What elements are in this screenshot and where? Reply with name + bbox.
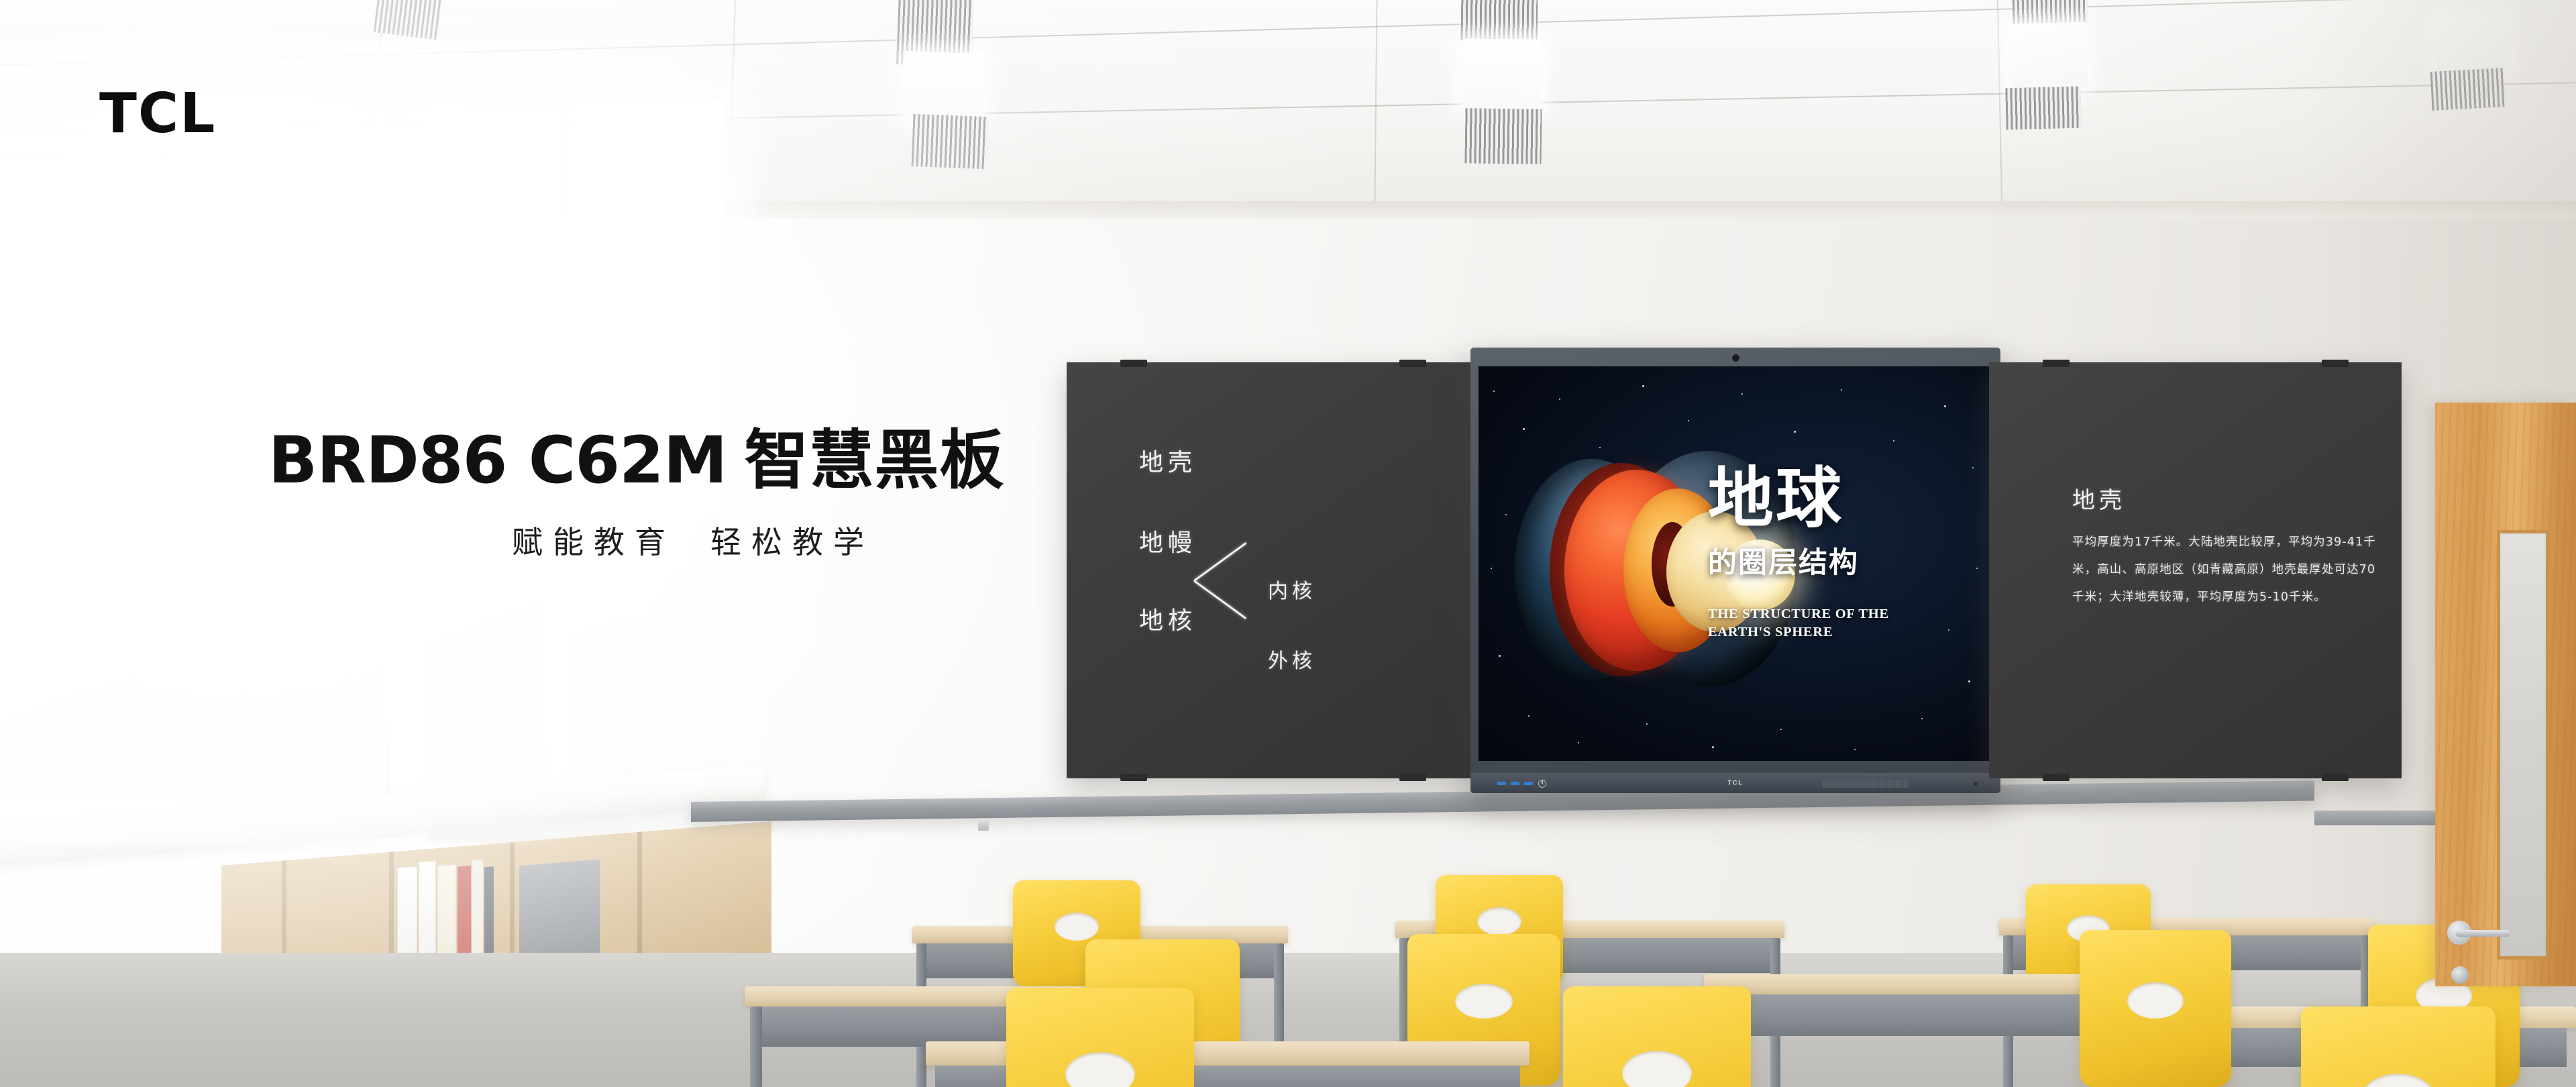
tagline-left: 赋能教育: [512, 524, 676, 560]
ceiling-vent: [1461, 0, 1538, 41]
display-bottom-bezel[interactable]: TCL: [1470, 773, 2000, 793]
slide-title-english: THE STRUCTURE OF THE EARTH'S SPHERE: [1708, 605, 1929, 641]
chalk-term-core: 地核: [1139, 601, 1197, 636]
classroom-scene: 地壳 地幔 地核 内核 外核: [0, 0, 2576, 1087]
camera-icon: [1732, 354, 1739, 362]
slide-title-main: 地球: [1708, 467, 1929, 530]
student-chair: [1563, 986, 1751, 1087]
ceiling-vent: [912, 114, 989, 169]
display-brand-logo: TCL: [1727, 780, 1743, 787]
chalk-term-inner-core: 内核: [1268, 574, 1316, 604]
door-lock-icon[interactable]: [2451, 966, 2469, 984]
chalk-paragraph-crust: 平均厚度为17千米。大陆地壳比较厚，平均为39-41千米，高山、高原地区（如青藏…: [2072, 529, 2387, 611]
student-chair: [2080, 930, 2231, 1087]
chalk-heading-crust: 地壳: [2072, 482, 2126, 515]
ceiling-light: [2434, 11, 2510, 73]
page-title: BRD86 C62M智慧黑板: [268, 427, 1100, 495]
interactive-flat-panel-display[interactable]: 地球 的圈层结构 THE STRUCTURE OF THE EARTH'S SP…: [1470, 348, 2000, 793]
slide-title-sub: 的圈层结构: [1708, 539, 1929, 581]
chalk-term-outer-core: 外核: [1268, 644, 1316, 674]
hero-tagline: 赋能教育轻松教学: [268, 518, 1100, 562]
door-handle[interactable]: [2455, 930, 2510, 937]
student-chair: [1006, 988, 1194, 1087]
ceiling-light: [903, 51, 985, 119]
chalk-term-crust: 地壳: [1139, 443, 1197, 478]
display-screen[interactable]: 地球 的圈层结构 THE STRUCTURE OF THE EARTH'S SP…: [1479, 366, 1992, 761]
tagline-right: 轻松教学: [710, 524, 874, 560]
chalk-bracket: [1194, 576, 1261, 660]
slide-title-block: 地球 的圈层结构 THE STRUCTURE OF THE EARTH'S SP…: [1708, 467, 1929, 641]
ceiling-vent: [2005, 87, 2081, 130]
ceiling-vent: [374, 0, 443, 40]
power-button-icon[interactable]: [1538, 780, 1546, 788]
tcl-logo: TCL: [99, 82, 216, 146]
classroom-door[interactable]: [2435, 403, 2576, 986]
product-model: BRD86 C62M: [268, 423, 727, 498]
smart-blackboard-assembly[interactable]: 地壳 地幔 地核 内核 外核: [1067, 362, 2402, 778]
student-chair: [2301, 1006, 2495, 1087]
product-name: 智慧黑板: [744, 423, 1004, 498]
ceiling-vent: [1464, 108, 1542, 164]
speaker-grille: [1822, 780, 1908, 788]
slide-title-en-line2: EARTH'S SPHERE: [1708, 623, 1929, 641]
ceiling-vent: [2430, 68, 2506, 111]
usb-port-icon[interactable]: [1524, 782, 1533, 785]
usb-port-icon[interactable]: [1511, 782, 1519, 785]
door-glass-panel: [2497, 530, 2549, 960]
blackboard-right-panel[interactable]: 地壳 平均厚度为17千米。大陆地壳比较厚，平均为39-41千米，高山、高原地区（…: [1989, 362, 2402, 778]
blackboard-left-panel[interactable]: 地壳 地幔 地核 内核 外核: [1067, 362, 1479, 778]
ceiling-light: [2009, 22, 2088, 90]
ceiling-vent: [2012, 0, 2088, 25]
ceiling-light: [1462, 38, 1540, 111]
ir-receiver-icon: [1974, 782, 1978, 786]
chalk-term-mantle: 地幔: [1139, 523, 1197, 558]
hero-text-block: BRD86 C62M智慧黑板 赋能教育轻松教学: [268, 427, 1100, 562]
slide-title-en-line1: THE STRUCTURE OF THE: [1708, 605, 1929, 623]
chalk-rail-clip: [978, 820, 989, 831]
usb-port-icon[interactable]: [1497, 782, 1506, 785]
